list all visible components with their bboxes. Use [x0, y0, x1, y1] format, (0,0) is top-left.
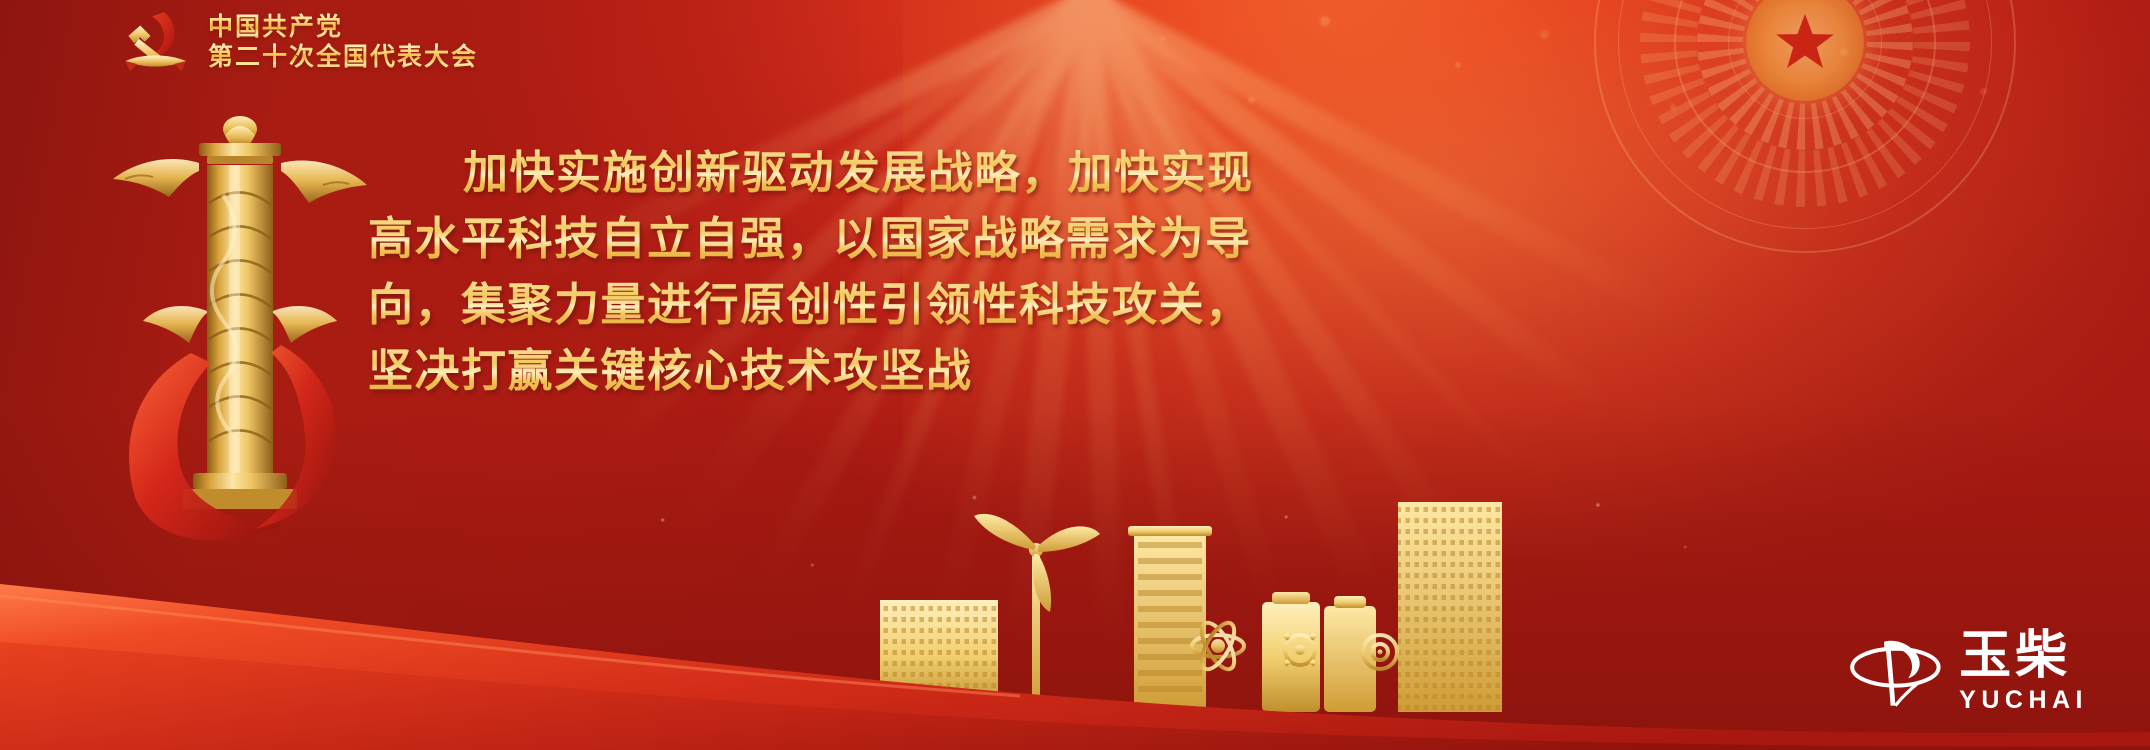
congress-logo-line-2: 第二十次全国代表大会 [208, 43, 478, 70]
yuchai-logo: 玉柴 YUCHAI [1849, 630, 2088, 714]
red-silk-ribbon [0, 500, 2150, 750]
five-point-star-icon [1773, 10, 1837, 74]
slogan-line-2: 高水平科技自立自强，以国家战略需求为导 [368, 206, 1268, 272]
cpc-hammer-sickle-emblem [118, 6, 192, 76]
banner-root: 中国共产党 第二十次全国代表大会 加快实施创新驱动发展战略，加快实现 高水平科技… [0, 0, 2150, 750]
slogan-line-3: 向，集聚力量进行原创性引领性科技攻关， [368, 272, 1268, 338]
slogan-line-1: 加快实施创新驱动发展战略，加快实现 [368, 140, 1268, 206]
congress-logo-line-1: 中国共产党 [208, 13, 478, 40]
yuchai-swoosh-mark [1849, 633, 1945, 711]
slogan-block: 加快实施创新驱动发展战略，加快实现 高水平科技自立自强，以国家战略需求为导 向，… [368, 140, 1268, 404]
yuchai-name-en: YUCHAI [1959, 686, 2088, 714]
yuchai-name-cn: 玉柴 [1959, 630, 2071, 682]
slogan-line-4: 坚决打赢关键核心技术攻坚战 [368, 338, 1268, 404]
congress-logo: 中国共产党 第二十次全国代表大会 [118, 6, 478, 76]
